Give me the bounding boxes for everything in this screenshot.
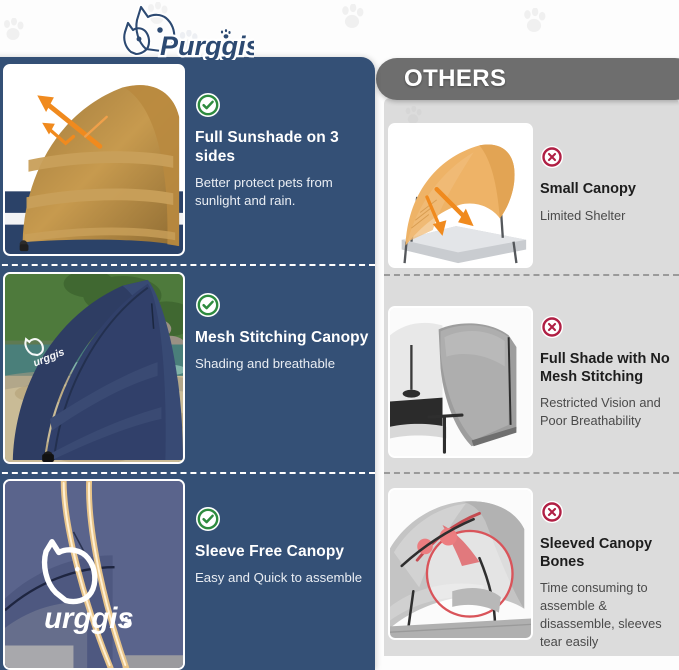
svg-text:urggis: urggis xyxy=(44,602,134,635)
tan-canopy-with-sun-deflection-arrows xyxy=(5,66,183,254)
others-divider-1 xyxy=(384,274,679,276)
others-feature-subtitle: Time consuming to assemble & disassemble… xyxy=(540,579,674,651)
brand-feature-subtitle: Shading and breathable xyxy=(195,355,370,373)
dog-and-cat-head-logo: Purggis xyxy=(108,2,254,60)
others-photo-3 xyxy=(388,488,533,640)
brand-divider-2 xyxy=(0,472,375,474)
brand-divider-1 xyxy=(0,264,375,266)
paw-print-icon xyxy=(2,18,24,42)
others-feature-subtitle: Limited Shelter xyxy=(540,207,674,225)
brand-feature-3: Sleeve Free Canopy Easy and Quick to ass… xyxy=(195,506,370,587)
brand-feature-title: Full Sunshade on 3 sides xyxy=(195,129,370,167)
brand-photo-1 xyxy=(3,64,185,256)
navy-mesh-canopy-over-river-scene: urggis xyxy=(5,274,183,462)
brand-feature-2: Mesh Stitching Canopy Shading and breath… xyxy=(195,292,370,373)
brand-photo-2: urggis xyxy=(3,272,185,464)
others-feature-title: Sleeved Canopy Bones xyxy=(540,536,674,571)
paw-print-icon xyxy=(340,4,364,30)
navy-fabric-closeup-with-purggis-logo: urggis xyxy=(5,481,183,668)
others-feature-2: Full Shade with No Mesh Stitching Restri… xyxy=(540,315,674,430)
paw-print-icon xyxy=(522,8,546,34)
brand-feature-subtitle: Easy and Quick to assemble xyxy=(195,569,370,587)
comparison-infographic: OTHERS Purgg xyxy=(0,0,679,670)
brand-logo-text: Purggis xyxy=(160,31,254,60)
others-photo-1 xyxy=(388,123,533,268)
brand-feature-1: Full Sunshade on 3 sides Better protect … xyxy=(195,92,370,210)
others-feature-subtitle: Restricted Vision and Poor Breathability xyxy=(540,394,674,430)
brand-feature-subtitle: Better protect pets from sunlight and ra… xyxy=(195,174,370,210)
others-photo-2 xyxy=(388,306,533,458)
check-circle-icon xyxy=(195,292,221,318)
others-badge: OTHERS xyxy=(376,58,679,100)
brand-photo-3: urggis xyxy=(3,479,185,670)
others-feature-title: Full Shade with No Mesh Stitching xyxy=(540,351,674,386)
check-circle-icon xyxy=(195,506,221,532)
check-circle-icon xyxy=(195,92,221,118)
brand-feature-title: Sleeve Free Canopy xyxy=(195,543,370,562)
x-circle-icon xyxy=(540,315,564,339)
gray-solid-canopy-no-mesh xyxy=(390,308,531,456)
x-circle-icon xyxy=(540,500,564,524)
others-badge-label: OTHERS xyxy=(404,65,506,93)
x-circle-icon xyxy=(540,145,564,169)
others-feature-title: Small Canopy xyxy=(540,181,674,199)
others-feature-3: Sleeved Canopy Bones Time consuming to a… xyxy=(540,500,674,651)
others-feature-1: Small Canopy Limited Shelter xyxy=(540,145,674,225)
gray-canopy-with-red-sleeve-highlight xyxy=(390,490,531,638)
others-divider-2 xyxy=(384,472,679,474)
brand-feature-title: Mesh Stitching Canopy xyxy=(195,329,370,348)
small-orange-canopy-on-gray-pet-cot xyxy=(390,125,531,266)
brand-logo: Purggis xyxy=(108,2,254,60)
